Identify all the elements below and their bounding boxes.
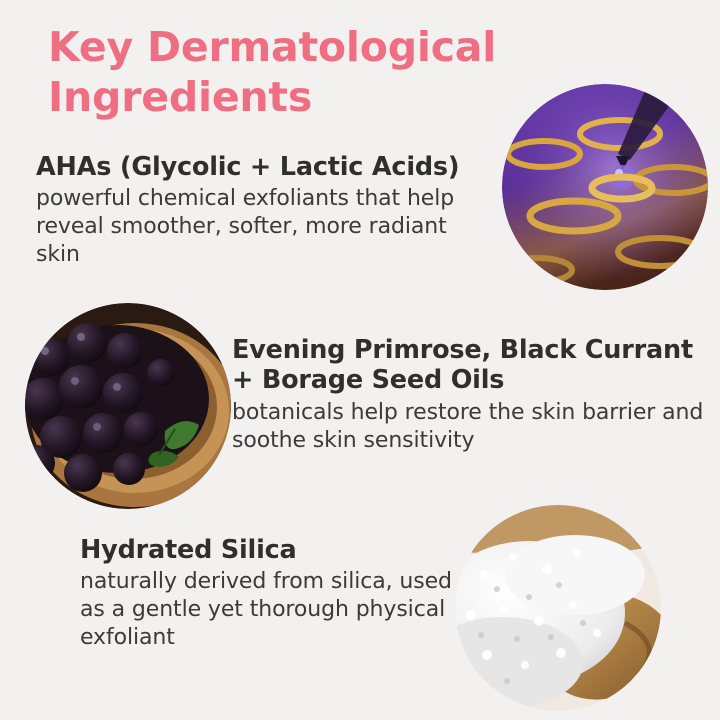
section-seed-oils-heading: Evening Primrose, Black Currant + Borage… bbox=[232, 335, 710, 395]
section-hydrated-silica: Hydrated Silica naturally derived from s… bbox=[80, 535, 470, 651]
dropper-over-purple-gold-vials-photo bbox=[502, 84, 708, 290]
black-currant-berries-in-wooden-bowl-photo bbox=[25, 303, 231, 509]
section-ahas: AHAs (Glycolic + Lactic Acids) powerful … bbox=[36, 152, 491, 268]
section-ahas-heading: AHAs (Glycolic + Lactic Acids) bbox=[36, 152, 491, 182]
section-ahas-body: powerful chemical exfoliants that help r… bbox=[36, 185, 491, 268]
section-hydrated-silica-body: naturally derived from silica, used as a… bbox=[80, 568, 470, 651]
section-seed-oils: Evening Primrose, Black Currant + Borage… bbox=[232, 335, 710, 455]
section-seed-oils-body: botanicals help restore the skin barrier… bbox=[232, 399, 710, 454]
infographic-page: Key Dermatological Ingredients AHAs (Gly… bbox=[0, 0, 720, 720]
page-title: Key Dermatological Ingredients bbox=[48, 22, 518, 123]
section-hydrated-silica-heading: Hydrated Silica bbox=[80, 535, 470, 565]
white-silica-crystals-in-wooden-scoop-photo bbox=[455, 505, 661, 711]
